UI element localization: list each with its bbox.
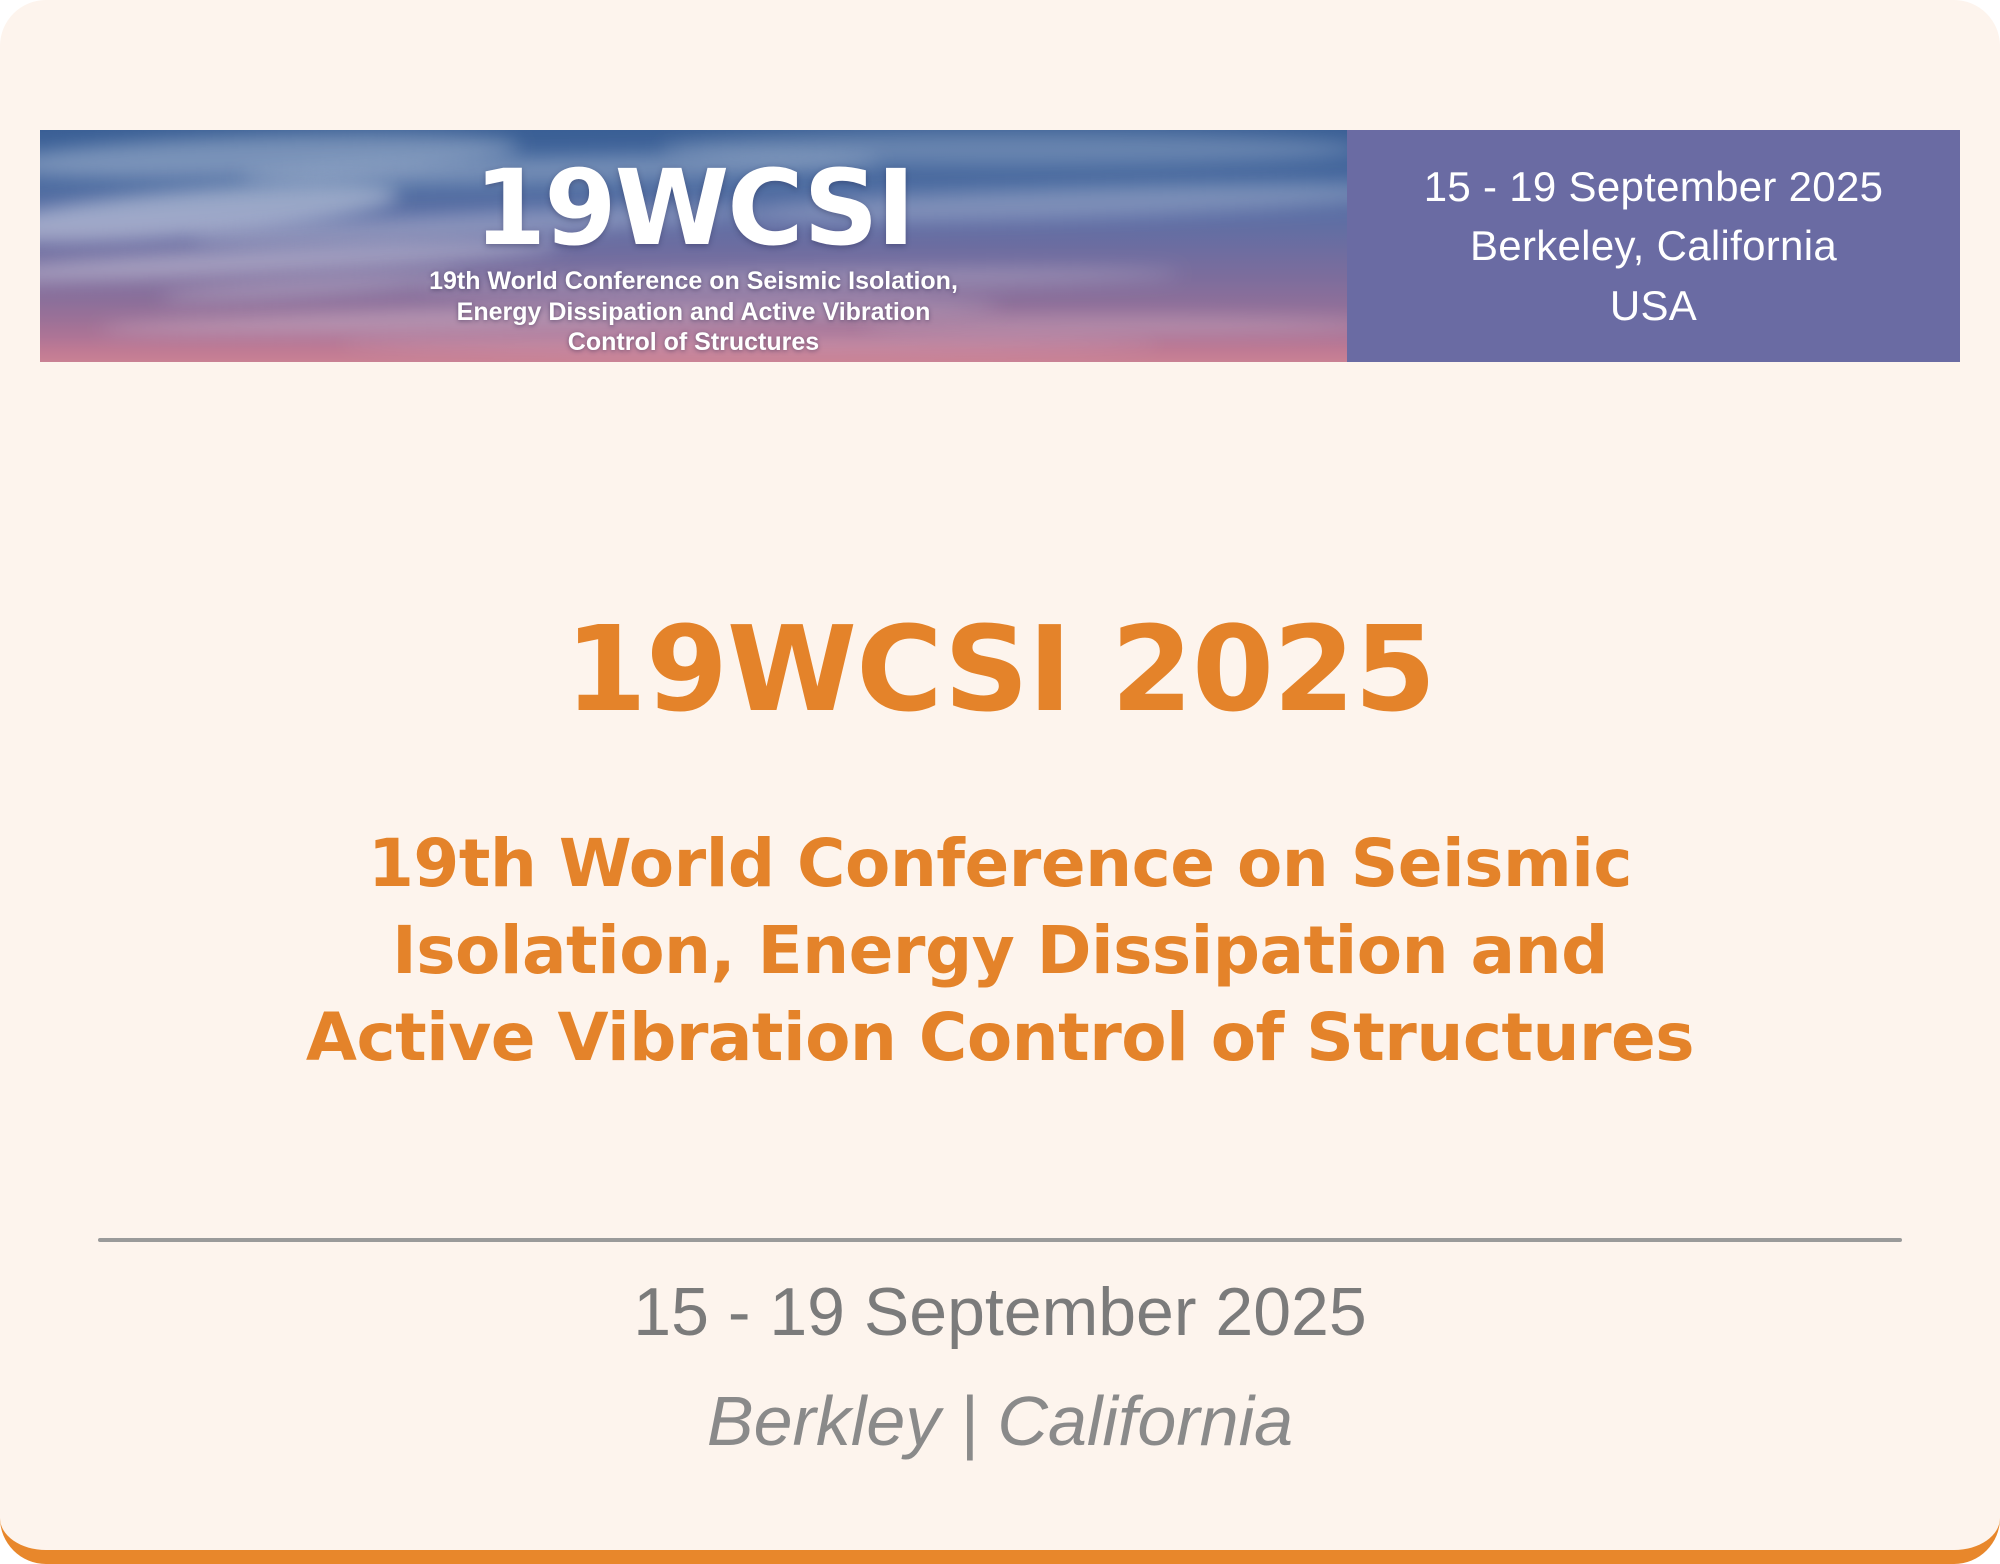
banner-logo-text: 19WCSI (474, 156, 913, 260)
banner-info-city: Berkeley, California (1470, 220, 1837, 271)
conference-dates: 15 - 19 September 2025 (0, 1272, 2000, 1352)
conference-card: 19WCSI 19th World Conference on Seismic … (0, 0, 2000, 1564)
banner-subtitle-line-1: 19th World Conference on Seismic Isolati… (429, 266, 958, 297)
page-subtitle-line-1: 19th World Conference on Seismic (90, 820, 1910, 907)
banner-info-dates: 15 - 19 September 2025 (1424, 161, 1884, 212)
banner-info-panel: 15 - 19 September 2025 Berkeley, Califor… (1347, 130, 1960, 362)
page-title: 19WCSI 2025 (0, 610, 2000, 728)
conference-banner: 19WCSI 19th World Conference on Seismic … (40, 130, 1960, 362)
horizontal-divider (98, 1238, 1902, 1242)
conference-location: Berkley | California (0, 1380, 2000, 1463)
page-subtitle-line-3: Active Vibration Control of Structures (90, 994, 1910, 1081)
page-subtitle: 19th World Conference on Seismic Isolati… (90, 820, 1910, 1081)
banner-subtitle: 19th World Conference on Seismic Isolati… (429, 266, 958, 358)
banner-subtitle-line-2: Energy Dissipation and Active Vibration (429, 297, 958, 328)
banner-subtitle-line-3: Control of Structures (429, 327, 958, 358)
banner-info-country: USA (1610, 280, 1697, 331)
page-subtitle-line-2: Isolation, Energy Dissipation and (90, 907, 1910, 994)
banner-sky-image: 19WCSI 19th World Conference on Seismic … (40, 130, 1347, 362)
